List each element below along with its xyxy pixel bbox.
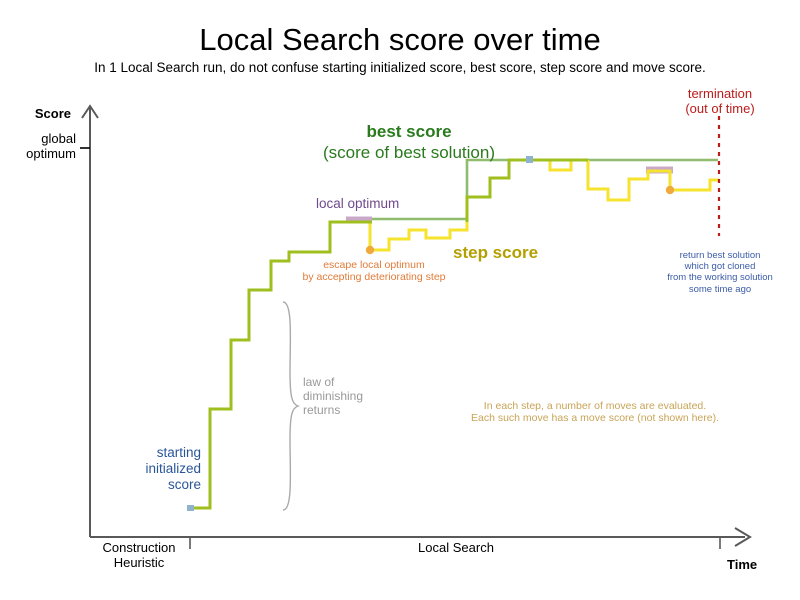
x-axis-label: Time [727,557,757,572]
starting-score-dot [187,505,194,511]
termination-label: termination (out of time) [685,86,754,117]
return-best-solution-note: return best solution which got cloned fr… [667,250,773,295]
diagram-canvas: Local Search score over time In 1 Local … [0,0,800,600]
move-score-note: In each step, a number of moves are eval… [471,400,719,425]
diminishing-returns-brace [283,302,298,510]
best-score-title: best score [366,122,451,142]
escape-dot-1 [366,246,374,254]
starting-initialized-score-label: starting initialized score [145,445,201,493]
score-over-time-chart [0,0,800,600]
law-of-diminishing-returns-label: law of diminishing returns [303,375,363,417]
global-optimum-label: global optimum [26,131,76,162]
y-axis-label: Score [35,106,71,121]
global-optimum-dot [526,156,533,163]
escape-dot-2 [666,186,674,194]
escape-local-optimum-note: escape local optimum by accepting deteri… [302,259,445,284]
page-subtitle: In 1 Local Search run, do not confuse st… [94,60,706,76]
y-axis [80,106,98,537]
phase-construction-heuristic-label: Construction Heuristic [103,540,176,571]
best-score-subtitle: (score of best solution) [323,143,495,163]
step-score-label: step score [453,243,538,263]
local-optimum-label: local optimum [316,196,399,212]
page-title: Local Search score over time [199,22,600,59]
working-solution-line [191,160,588,508]
point-markers [187,156,674,511]
phase-local-search-label: Local Search [418,540,494,555]
